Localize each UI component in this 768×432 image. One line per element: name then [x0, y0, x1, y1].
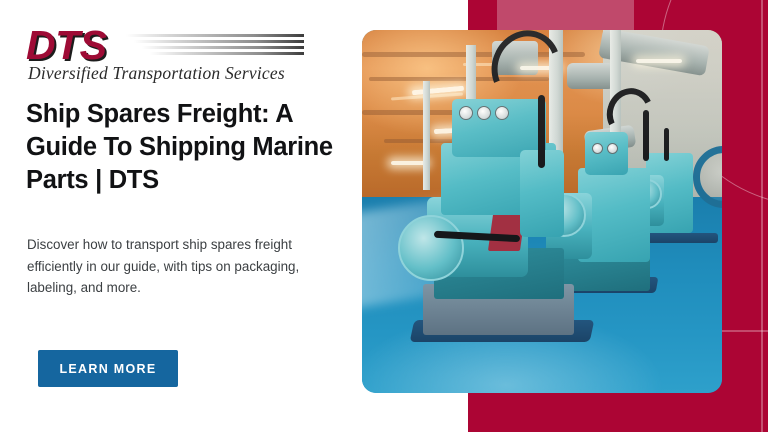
hero-photo [362, 30, 722, 393]
pink-accent-band [497, 0, 634, 30]
marketing-banner: DTS Diversified Transportation Services … [0, 0, 768, 432]
page-description: Discover how to transport ship spares fr… [27, 234, 317, 299]
ceiling-lamp [391, 161, 427, 165]
fan-cover [398, 215, 464, 281]
logo-tagline: Diversified Transportation Services [28, 63, 285, 84]
hose [643, 110, 649, 161]
logo-speed-stripes-icon [124, 33, 304, 59]
machine-post [423, 81, 430, 190]
hose [664, 128, 669, 161]
decorative-vertical-line [761, 0, 763, 432]
cylinder-head [585, 132, 628, 176]
pressure-gauge [592, 143, 603, 154]
page-title: Ship Spares Freight: A Guide To Shipping… [26, 98, 336, 197]
hose [538, 95, 545, 168]
brand-logo[interactable]: DTS Diversified Transportation Services [26, 25, 326, 85]
learn-more-button[interactable]: LEARN MORE [38, 350, 178, 387]
logo-wordmark: DTS [26, 25, 107, 66]
pressure-gauge [607, 143, 618, 154]
ceiling-lamp [636, 59, 682, 63]
engine-room-scene [362, 30, 722, 393]
air-duct [567, 63, 614, 89]
